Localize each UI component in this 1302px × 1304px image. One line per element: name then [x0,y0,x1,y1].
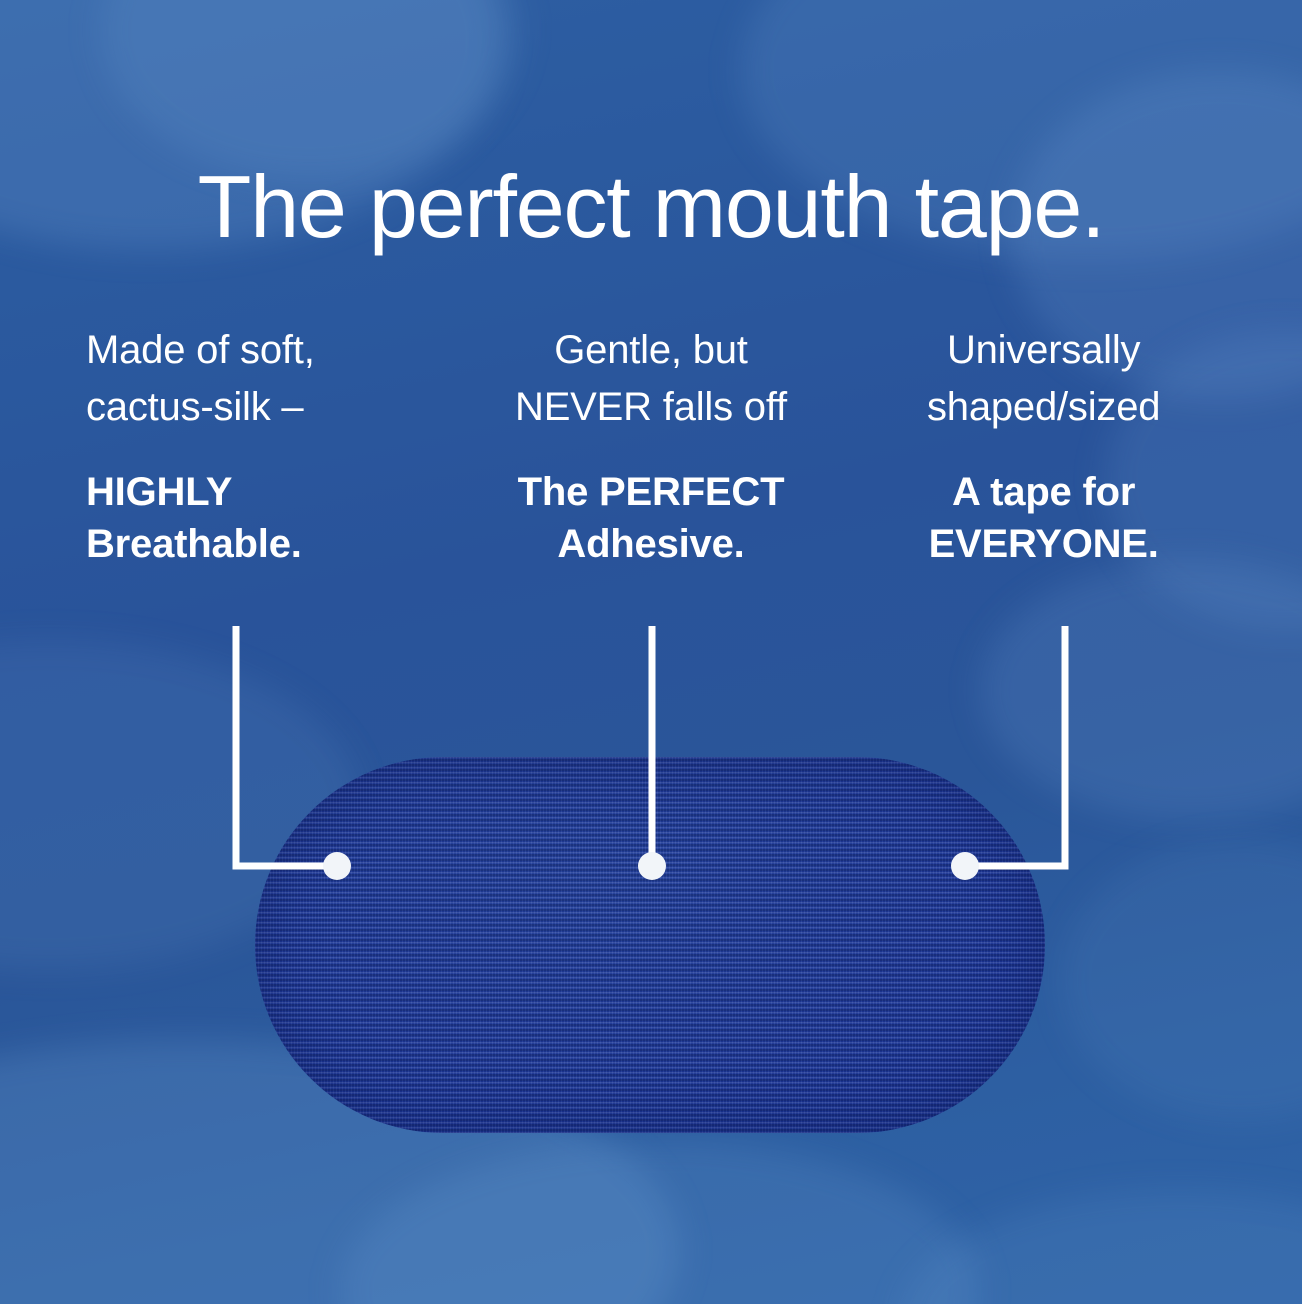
cloud-shape [1060,840,1302,1120]
feature-punch: The PERFECT Adhesive. [455,466,848,572]
promo-graphic: The perfect mouth tape. Made of soft, ca… [0,0,1302,1304]
feature-column-breathability: Made of soft, cactus-silk – HIGHLY Breat… [62,322,455,571]
cloud-shape [900,1190,1302,1304]
cloud-shape [100,0,520,180]
feature-lede: Made of soft, cactus-silk – [86,322,455,436]
mouth-tape-product [255,757,1045,1133]
feature-lede: Universally shaped/sized [847,322,1240,436]
feature-column-adhesive: Gentle, but NEVER falls off The PERFECT … [455,322,848,571]
tape-fabric-surface [255,757,1045,1133]
feature-columns: Made of soft, cactus-silk – HIGHLY Breat… [62,322,1240,571]
feature-column-sizing: Universally shaped/sized A tape for EVER… [847,322,1240,571]
page-title: The perfect mouth tape. [0,163,1302,251]
cloud-shape [340,1140,980,1304]
feature-punch: A tape for EVERYONE. [847,466,1240,572]
feature-lede: Gentle, but NEVER falls off [455,322,848,436]
feature-punch: HIGHLY Breathable. [86,466,455,572]
